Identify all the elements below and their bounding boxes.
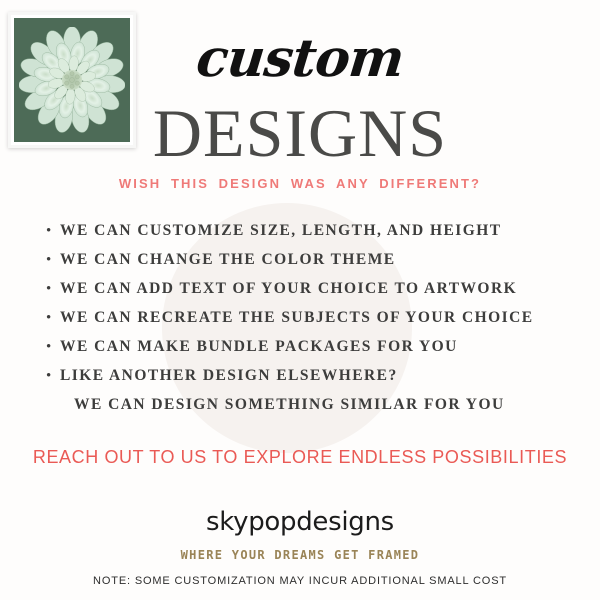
list-item-label: WE CAN CUSTOMIZE SIZE, LENGTH, AND HEIGH…: [60, 216, 502, 245]
brand-tagline: WHERE YOUR DREAMS GET FRAMED: [0, 548, 600, 562]
list-item: • WE CAN CHANGE THE COLOR THEME: [46, 245, 591, 274]
bullet-icon: •: [46, 362, 60, 391]
bullet-icon: •: [46, 275, 60, 304]
list-item: • WE CAN MAKE BUNDLE PACKAGES FOR YOU: [46, 332, 591, 361]
call-to-action-text: REACH OUT TO US TO EXPLORE ENDLESS POSSI…: [0, 447, 600, 468]
bullet-icon: •: [46, 217, 60, 246]
brand-name: skypopdesigns: [0, 507, 600, 537]
bullet-icon: •: [46, 333, 60, 362]
list-item: • WE CAN CUSTOMIZE SIZE, LENGTH, AND HEI…: [46, 216, 591, 245]
subtitle-tagline: WISH THIS DESIGN WAS ANY DIFFERENT?: [0, 176, 600, 191]
list-item-continuation: WE CAN DESIGN SOMETHING SIMILAR FOR YOU: [46, 390, 591, 419]
script-title: custom: [0, 26, 600, 92]
list-item-label: WE CAN RECREATE THE SUBJECTS OF YOUR CHO…: [60, 303, 534, 332]
list-item-label: WE CAN MAKE BUNDLE PACKAGES FOR YOU: [60, 332, 458, 361]
list-item-label: WE CAN DESIGN SOMETHING SIMILAR FOR YOU: [74, 390, 505, 419]
bullet-icon: •: [46, 246, 60, 275]
list-item: • LIKE ANOTHER DESIGN ELSEWHERE?: [46, 361, 591, 390]
list-item-label: LIKE ANOTHER DESIGN ELSEWHERE?: [60, 361, 398, 390]
footnote-disclaimer: NOTE: SOME CUSTOMIZATION MAY INCUR ADDIT…: [0, 575, 600, 587]
list-item-label: WE CAN CHANGE THE COLOR THEME: [60, 245, 396, 274]
bullet-icon: •: [46, 304, 60, 333]
page-title: DESIGNS: [0, 98, 600, 168]
feature-list: • WE CAN CUSTOMIZE SIZE, LENGTH, AND HEI…: [46, 216, 591, 419]
promo-graphic-canvas: custom DESIGNS WISH THIS DESIGN WAS ANY …: [0, 0, 600, 600]
list-item: • WE CAN ADD TEXT OF YOUR CHOICE TO ARTW…: [46, 274, 591, 303]
list-item: • WE CAN RECREATE THE SUBJECTS OF YOUR C…: [46, 303, 591, 332]
list-item-label: WE CAN ADD TEXT OF YOUR CHOICE TO ARTWOR…: [60, 274, 517, 303]
